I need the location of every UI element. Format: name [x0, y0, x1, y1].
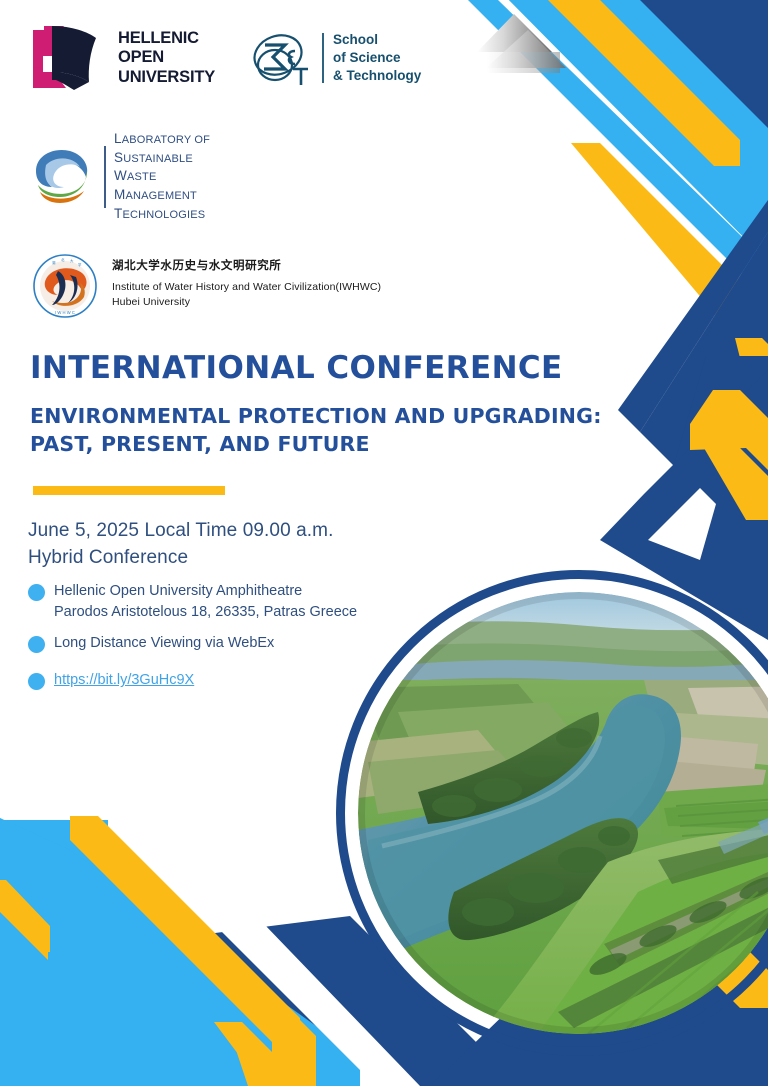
institute-english-name: Institute of Water History and Water Civ…: [112, 280, 381, 295]
registration-link[interactable]: https://bit.ly/3GuHc9X: [54, 670, 194, 691]
deco-top-right-blue-band: [400, 0, 768, 262]
deco-right-yellow-stripe-2: [571, 143, 768, 345]
lab-sustainable-waste-logo: LABORATORY OF SUSTAINABLE WASTE MANAGEME…: [30, 130, 210, 223]
page-title-sub-line2: PAST, PRESENT, AND FUTURE: [30, 430, 602, 458]
hou-line-3: UNIVERSITY: [118, 68, 215, 87]
venue-text: Hellenic Open University Amphitheatre Pa…: [54, 581, 357, 624]
lab-line-3: WASTE: [114, 167, 210, 186]
page-title-main: INTERNATIONAL CONFERENCE: [30, 350, 563, 386]
lab-line-1: LABORATORY OF: [114, 130, 210, 149]
sigma-epsilon-tau-monogram-icon: [251, 25, 313, 91]
deco-white-notch-right: [648, 488, 716, 560]
deco-bottom-left-yellow-stripe-1: [0, 880, 50, 952]
hou-line-2: OPEN: [118, 48, 215, 67]
hou-logo-text: HELLENIC OPEN UNIVERSITY: [118, 29, 215, 87]
hou-line-1: HELLENIC: [118, 29, 215, 48]
logo-divider: [322, 33, 324, 83]
list-item: Long Distance Viewing via WebEx: [28, 633, 428, 654]
open-book-logo-icon: [30, 22, 108, 94]
lab-line-2: SUSTAINABLE: [114, 149, 210, 168]
deco-top-right-navy-block: [568, 0, 768, 210]
deco-right-yellow-stripe-4: [690, 390, 768, 470]
lab-logo-text: LABORATORY OF SUSTAINABLE WASTE MANAGEME…: [114, 130, 210, 223]
page-title-sub: ENVIRONMENTAL PROTECTION AND UPGRADING: …: [30, 402, 602, 459]
deco-bottom-yellow-long-stripe: [70, 816, 300, 1086]
deco-bottom-left-yellow-stripe-1b: [0, 880, 48, 960]
lab-logo-divider: [104, 146, 106, 208]
conference-date: June 5, 2025 Local Time 09.00 a.m.: [28, 518, 428, 545]
bullet-dot-icon: [28, 584, 45, 601]
school-line-1: School: [333, 31, 421, 49]
deco-bottom-right-yellow-stripe: [234, 1044, 304, 1086]
deco-right-yellow-stripe-5: [690, 424, 768, 520]
iwhwc-institute-block: I W H W C 湖北大学 湖北大学水历史与水文明研究所 Institute …: [32, 253, 381, 319]
page-title-sub-line1: ENVIRONMENTAL PROTECTION AND UPGRADING:: [30, 402, 602, 430]
remote-viewing-text: Long Distance Viewing via WebEx: [54, 633, 274, 654]
deco-gray-triangle-3: [487, 52, 560, 73]
venue-line-1: Hellenic Open University Amphitheatre: [54, 583, 302, 599]
school-line-2: of Science: [333, 49, 421, 67]
deco-bottom-yellow-long-stripe-2: [70, 816, 316, 1086]
hellenic-open-university-logo: HELLENIC OPEN UNIVERSITY: [30, 22, 215, 94]
lab-line-5: TECHNOLOGIES: [114, 205, 210, 224]
title-underline-rule: [33, 486, 225, 495]
deco-gray-triangle-2: [486, 30, 566, 68]
deco-white-wedge-right: [575, 143, 768, 345]
institute-text: 湖北大学水历史与水文明研究所 Institute of Water Histor…: [112, 253, 381, 310]
deco-top-right-yellow-stripe: [548, 0, 740, 166]
school-of-science-logo: School of Science & Technology: [251, 25, 421, 91]
lab-line-4: MANAGEMENT: [114, 186, 210, 205]
bullet-dot-icon: [28, 673, 45, 690]
conference-poster: HELLENIC OPEN UNIVERSITY School: [0, 0, 768, 1086]
deco-gray-triangle-1: [477, 14, 552, 52]
deco-bottom-right-yellow-stripe-2: [214, 1022, 306, 1086]
school-line-3: & Technology: [333, 67, 421, 85]
conference-date-block: June 5, 2025 Local Time 09.00 a.m. Hybri…: [28, 518, 428, 572]
list-item: Hellenic Open University Amphitheatre Pa…: [28, 581, 428, 624]
conference-format: Hybrid Conference: [28, 545, 428, 572]
bullet-dot-icon: [28, 636, 45, 653]
header-logos: HELLENIC OPEN UNIVERSITY School: [30, 22, 421, 94]
institute-chinese-name: 湖北大学水历史与水文明研究所: [112, 257, 381, 273]
deco-bottom-left-blue-band: [0, 820, 300, 1086]
deco-bottom-left-navy-2: [0, 906, 180, 1086]
deco-bottom-left-blue-band-2: [0, 818, 390, 1086]
detail-bullet-list: Hellenic Open University Amphitheatre Pa…: [28, 581, 428, 692]
list-item[interactable]: https://bit.ly/3GuHc9X: [28, 670, 428, 691]
iwhwc-seal-icon: I W H W C 湖北大学: [32, 253, 98, 319]
swirl-wave-logo-icon: [30, 145, 96, 209]
deco-right-navy-wedge: [618, 200, 768, 560]
deco-top-right-blue-band-2: [468, 0, 768, 300]
institute-university: Hubei University: [112, 295, 381, 310]
deco-right-yellow-stripe-3: [735, 338, 768, 392]
svg-text:I W H W C: I W H W C: [55, 310, 75, 315]
venue-line-2: Parodos Aristotelous 18, 26335, Patras G…: [54, 604, 357, 620]
school-logo-text: School of Science & Technology: [333, 31, 421, 84]
conference-details: June 5, 2025 Local Time 09.00 a.m. Hybri…: [28, 518, 428, 701]
